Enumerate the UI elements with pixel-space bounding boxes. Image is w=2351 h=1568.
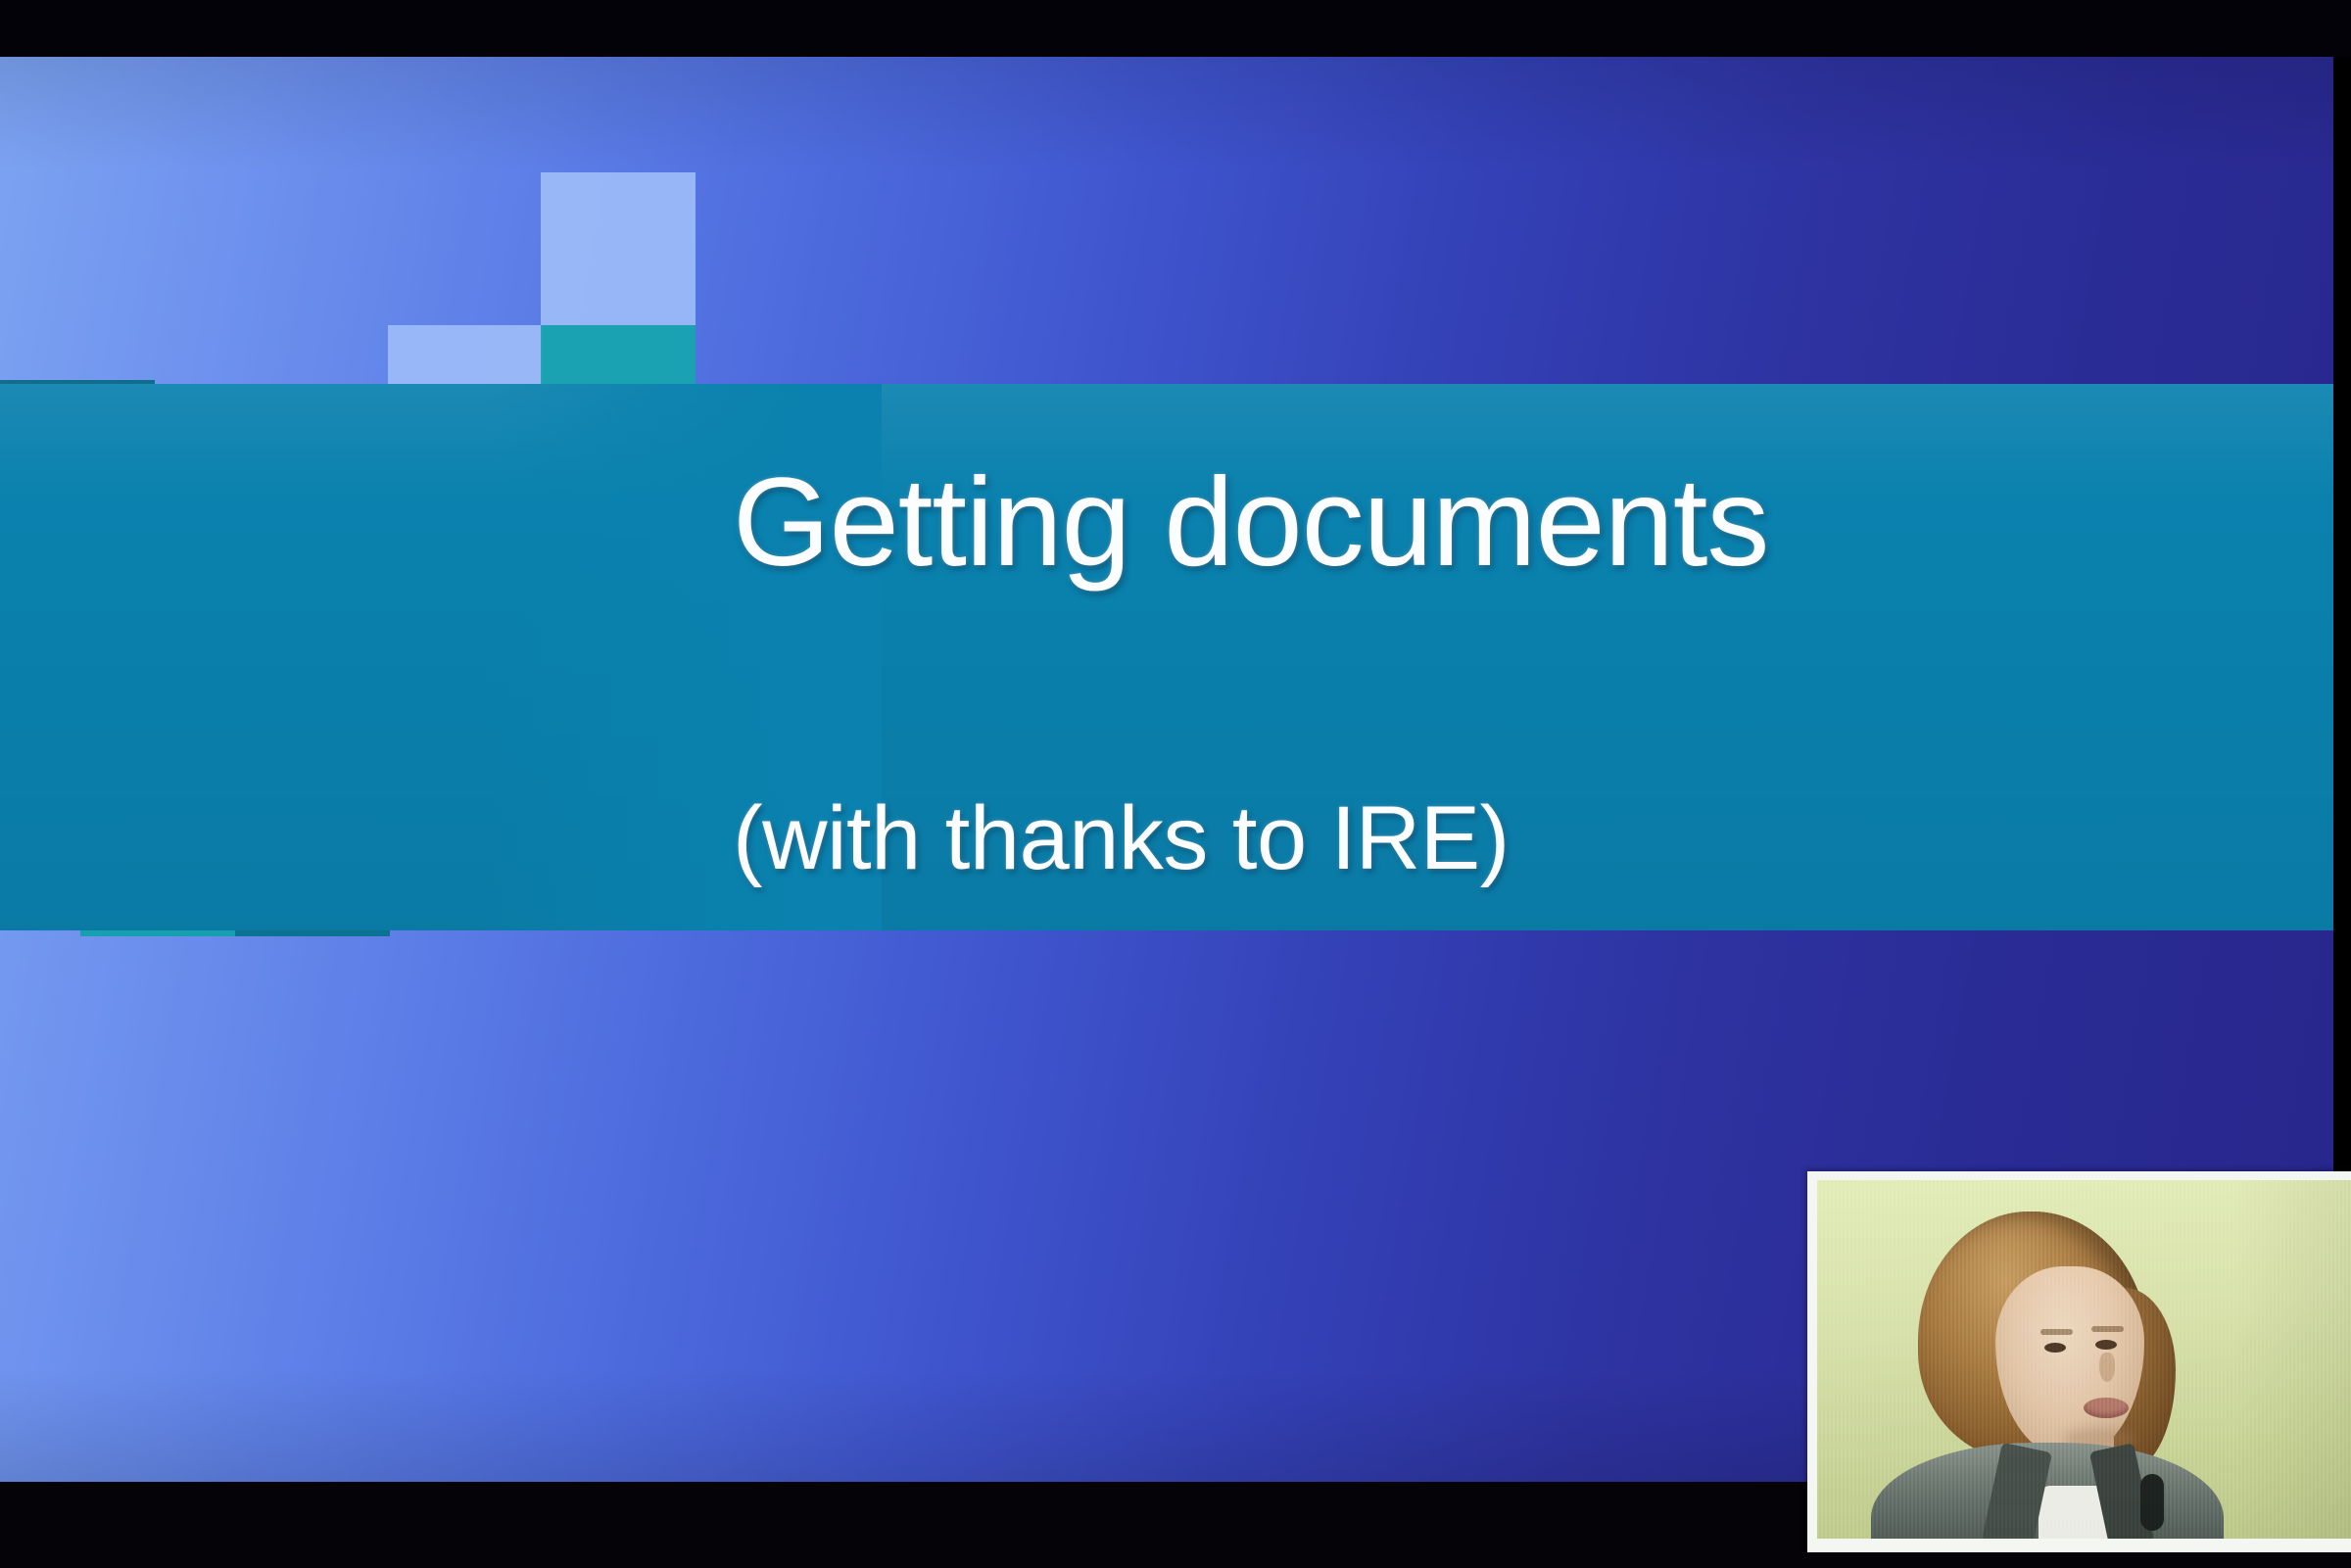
video-player-frame: Getting documents (with thanks to IRE) xyxy=(0,0,2351,1568)
video-soft-overlay xyxy=(1817,1180,2351,1539)
mosaic-cell xyxy=(541,172,696,325)
slide-title: Getting documents xyxy=(733,460,1768,586)
speaker-video-content xyxy=(1817,1180,2351,1539)
letterbox-bar-top xyxy=(0,0,2351,57)
speaker-video-inset[interactable] xyxy=(1807,1171,2351,1552)
slide-subtitle: (with thanks to IRE) xyxy=(733,793,1510,883)
